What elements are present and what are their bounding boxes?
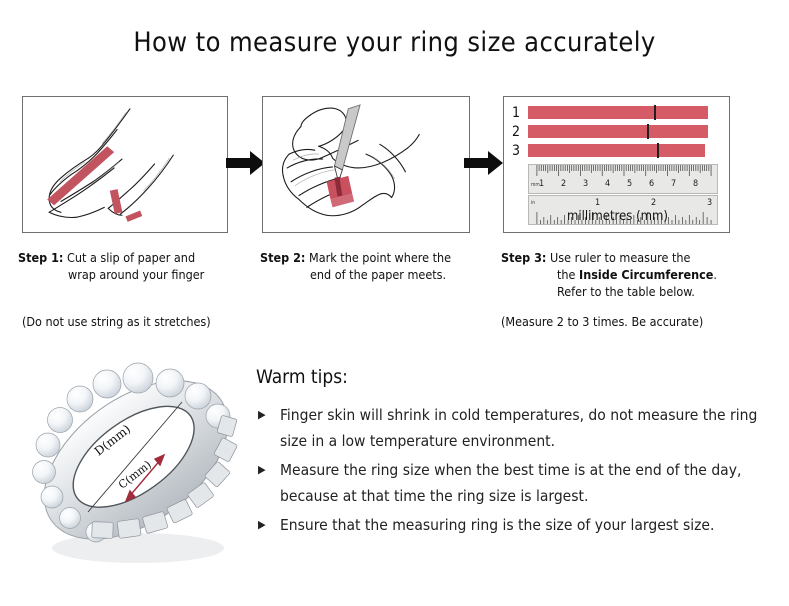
step-3-image-panel: 1 2 3	[503, 96, 730, 233]
step-3-text-inside-circumference: Inside Circumference	[579, 267, 713, 282]
arrow-right-icon	[464, 148, 504, 178]
strip-bar	[528, 106, 708, 119]
triangle-right-icon: ▶	[258, 402, 266, 428]
step-3-label: Step 3:	[501, 250, 546, 265]
strip-mark-tick	[657, 143, 659, 158]
strip-bar	[528, 125, 708, 138]
ruler-inch-tick-label: 3	[707, 199, 712, 208]
ruler-cm-tick-label: 3	[583, 180, 588, 189]
triangle-right-icon: ▶	[258, 457, 266, 483]
ruler-cm-tick-label: 4	[605, 180, 610, 189]
strip-number: 1	[512, 106, 528, 120]
step-3-note: (Measure 2 to 3 times. Be accurate)	[501, 314, 703, 329]
tip-text: Measure the ring size when the best time…	[280, 461, 741, 505]
hand-marking-paper-with-pen-illustration	[263, 97, 469, 232]
strip-number: 3	[512, 144, 528, 158]
ruler-cm-tick-label: 7	[671, 180, 676, 189]
strip-row: 1	[512, 104, 727, 121]
ruler-inch-tick-label: 2	[651, 199, 656, 208]
step-1-note: (Do not use string as it stretches)	[22, 314, 211, 329]
ruler-cm-tick-label: 1	[539, 180, 544, 189]
step-3-text-line1: Use ruler to measure the	[550, 250, 690, 265]
tip-item: ▶ Measure the ring size when the best ti…	[256, 457, 766, 509]
strip-bar	[528, 144, 705, 157]
step-3-caption: Step 3: Use ruler to measure the the Ins…	[501, 249, 751, 300]
ruler-cm-ticks	[529, 165, 717, 194]
step-2-label: Step 2:	[260, 250, 305, 265]
warm-tips-section: Warm tips: ▶ Finger skin will shrink in …	[256, 366, 766, 541]
ruler-cm-tick-label: 2	[561, 180, 566, 189]
step-1-caption: Step 1: Cut a slip of paper and wrap aro…	[18, 249, 253, 283]
strip-number: 2	[512, 125, 528, 139]
triangle-right-icon: ▶	[258, 512, 266, 538]
step-2-caption: Step 2: Mark the point where the end of …	[260, 249, 495, 283]
strip-row: 3	[512, 142, 727, 159]
step-1-text-line1: Cut a slip of paper and	[67, 250, 195, 265]
tip-item: ▶ Finger skin will shrink in cold temper…	[256, 402, 766, 454]
step-2-image-panel	[262, 96, 470, 233]
warm-tips-title: Warm tips:	[256, 366, 766, 388]
step-2-text-line1: Mark the point where the	[309, 250, 451, 265]
tip-text: Finger skin will shrink in cold temperat…	[280, 406, 757, 450]
strip-row: 2	[512, 123, 727, 140]
ruler-cm-scale: mm 1 2 3 4 5 6 7 8	[528, 164, 718, 194]
ruler-inch-tick-label: 1	[595, 199, 600, 208]
strip-mark-tick	[654, 105, 656, 120]
arrow-right-icon	[226, 148, 266, 178]
step-3-text-line2-post: .	[713, 267, 717, 282]
step-3-text-line3: Refer to the table below.	[501, 283, 751, 300]
ruler-cm-tick-label: 8	[693, 180, 698, 189]
step-2-text-line2: end of the paper meets.	[260, 266, 495, 283]
tip-text: Ensure that the measuring ring is the si…	[280, 516, 714, 534]
ruler-unit-caption: millimetres (mm)	[504, 209, 730, 224]
pen-shape	[334, 105, 360, 182]
paper-strip-shape	[47, 146, 142, 222]
ruler-cm-tick-label: 5	[627, 180, 632, 189]
step-3-text-line2-pre: the	[557, 267, 579, 282]
tip-item: ▶ Ensure that the measuring ring is the …	[256, 512, 766, 538]
hand-with-paper-strip-illustration	[23, 97, 227, 232]
step-1-text-line2: wrap around your finger	[18, 266, 253, 283]
step-1-image-panel	[22, 96, 228, 233]
step-1-label: Step 1:	[18, 250, 63, 265]
ruler-inch-unit-label: in	[531, 200, 535, 206]
ruler-cm-tick-label: 6	[649, 180, 654, 189]
strip-mark-tick	[647, 124, 649, 139]
measured-strips-group: 1 2 3	[512, 104, 727, 161]
